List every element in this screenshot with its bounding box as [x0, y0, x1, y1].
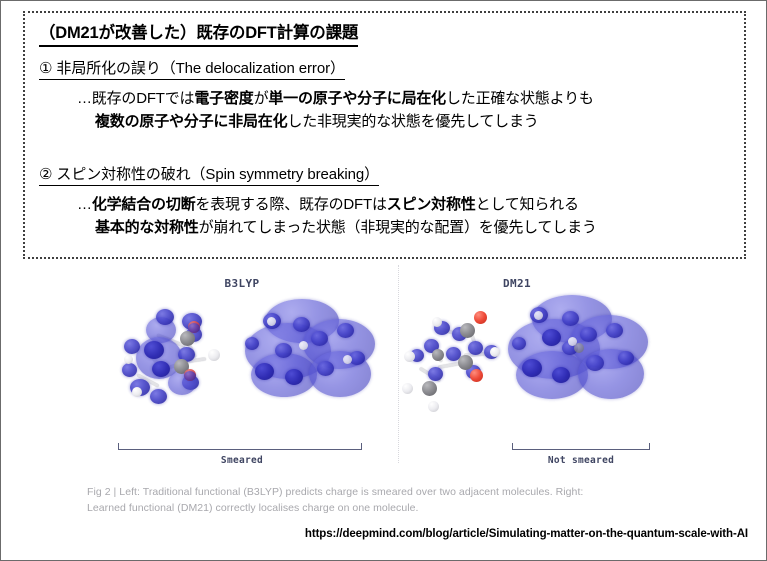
carbon-atom: [460, 323, 475, 338]
section-1-line-2: 複数の原子や分子に非局在化した非現実的な状態を優先してしまう: [39, 110, 729, 133]
hydrogen-atom: [534, 311, 543, 320]
molecule-render-dm21: [398, 263, 767, 463]
hydrogen-atom: [299, 341, 308, 350]
text-callout-box: （DM21が改善した）既存のDFT計算の課題 ① 非局所化の誤り（The del…: [23, 11, 746, 259]
section-2-line-2: 基本的な対称性が崩れてしまった状態（非現実的な配置）を優先してしまう: [39, 216, 729, 239]
density-blob: [150, 389, 167, 404]
density-blob: [428, 367, 443, 381]
molecule-render-b3lyp: [2, 263, 398, 463]
density-blob: [188, 323, 200, 333]
density-blob: [618, 351, 634, 365]
hydrogen-atom: [124, 355, 133, 364]
density-blob: [552, 367, 570, 383]
bracket-label-not-smeared: Not smeared: [521, 455, 641, 466]
density-blob: [122, 363, 137, 377]
figure-caption: Fig 2 | Left: Traditional functional (B3…: [87, 485, 687, 517]
density-blob: [152, 361, 170, 377]
density-blob: [512, 337, 526, 350]
hydrogen-atom: [428, 401, 439, 412]
s1l1-mid: が: [254, 90, 269, 107]
section-1-body: …既存のDFTでは電子密度が単一の原子や分子に局在化した正確な状態よりも 複数の…: [39, 87, 729, 134]
density-blob: [317, 361, 334, 376]
density-blob: [522, 359, 542, 377]
section-2-heading: ② スピン対称性の破れ（Spin symmetry breaking）: [39, 165, 379, 186]
s2l2-bold: 基本的な対称性: [95, 219, 199, 236]
density-blob: [562, 311, 579, 326]
density-blob: [255, 363, 274, 380]
s1l2-bold: 複数の原子や分子に非局在化: [95, 113, 287, 130]
carbon-atom: [432, 349, 444, 361]
caption-line-2: Learned functional (DM21) correctly loca…: [87, 501, 687, 517]
s1l2-suffix: した非現実的な状態を優先してしまう: [287, 113, 538, 130]
hydrogen-atom: [404, 351, 415, 362]
section-1-line-1: …既存のDFTでは電子密度が単一の原子や分子に局在化した正確な状態よりも: [39, 87, 729, 110]
hydrogen-atom: [402, 383, 413, 394]
bracket-not-smeared: [512, 443, 650, 450]
density-blob: [337, 323, 354, 338]
b3lyp-molecule-left: [122, 303, 242, 423]
carbon-atom: [458, 355, 473, 370]
carbon-atom: [574, 343, 584, 353]
b3lyp-molecule-right: [245, 295, 385, 425]
hydrogen-atom: [208, 349, 220, 361]
s2l1-suffix: として知られる: [476, 196, 579, 213]
s2l2-suffix: が崩れてしまった状態（非現実的な配置）を優先してしまう: [199, 219, 597, 236]
hydrogen-atom: [343, 355, 352, 364]
density-blob: [184, 371, 196, 381]
bracket-smeared: [118, 443, 362, 450]
section-2-line-1: …化学結合の切断を表現する際、既存のDFTはスピン対称性として知られる: [39, 193, 729, 216]
density-blob: [144, 341, 164, 359]
dm21-molecule-right: [508, 293, 658, 425]
s1l1-prefix: …既存のDFTでは: [77, 90, 194, 107]
s2l1-prefix: …: [77, 196, 92, 213]
s1l1-bold-1: 電子密度: [194, 90, 253, 107]
section-1-heading: ① 非局所化の誤り（The delocalization error）: [39, 59, 345, 80]
s1l1-suffix: した正確な状態よりも: [446, 90, 594, 107]
hydrogen-atom: [267, 317, 276, 326]
hydrogen-atom: [432, 317, 442, 327]
s2l1-mid: を表現する際、既存のDFTは: [195, 196, 386, 213]
s2l1-bold-2: スピン対称性: [387, 196, 476, 213]
density-blob: [586, 355, 604, 371]
source-url[interactable]: https://deepmind.com/blog/article/Simula…: [1, 528, 760, 540]
density-blob: [156, 309, 174, 325]
density-blob: [311, 331, 328, 346]
s2l1-bold-1: 化学結合の切断: [92, 196, 196, 213]
page-title: （DM21が改善した）既存のDFT計算の課題: [39, 23, 358, 47]
caption-line-1: Fig 2 | Left: Traditional functional (B3…: [87, 485, 687, 501]
slide-canvas: （DM21が改善した）既存のDFT計算の課題 ① 非局所化の誤り（The del…: [0, 0, 767, 561]
density-blob: [542, 329, 561, 346]
dm21-molecule-left: [402, 305, 512, 425]
oxygen-atom: [470, 369, 483, 382]
bracket-label-smeared: Smeared: [182, 455, 302, 466]
hydrogen-atom: [132, 387, 142, 397]
s1l1-bold-2: 単一の原子や分子に局在化: [268, 90, 446, 107]
carbon-atom: [180, 331, 195, 346]
density-blob: [606, 323, 623, 338]
density-blob: [245, 337, 259, 350]
hydrogen-atom: [490, 347, 500, 357]
density-blob: [124, 339, 140, 354]
section-spin-symmetry-breaking: ② スピン対称性の破れ（Spin symmetry breaking） …化学結…: [39, 165, 729, 239]
carbon-atom: [422, 381, 437, 396]
density-blob: [293, 317, 310, 332]
density-blob: [275, 343, 292, 358]
section-2-body: …化学結合の切断を表現する際、既存のDFTはスピン対称性として知られる 基本的な…: [39, 193, 729, 240]
density-blob: [285, 369, 303, 385]
section-delocalization-error: ① 非局所化の誤り（The delocalization error） …既存の…: [39, 59, 729, 133]
density-blob: [468, 341, 483, 355]
oxygen-atom: [474, 311, 487, 324]
density-blob: [580, 327, 597, 342]
